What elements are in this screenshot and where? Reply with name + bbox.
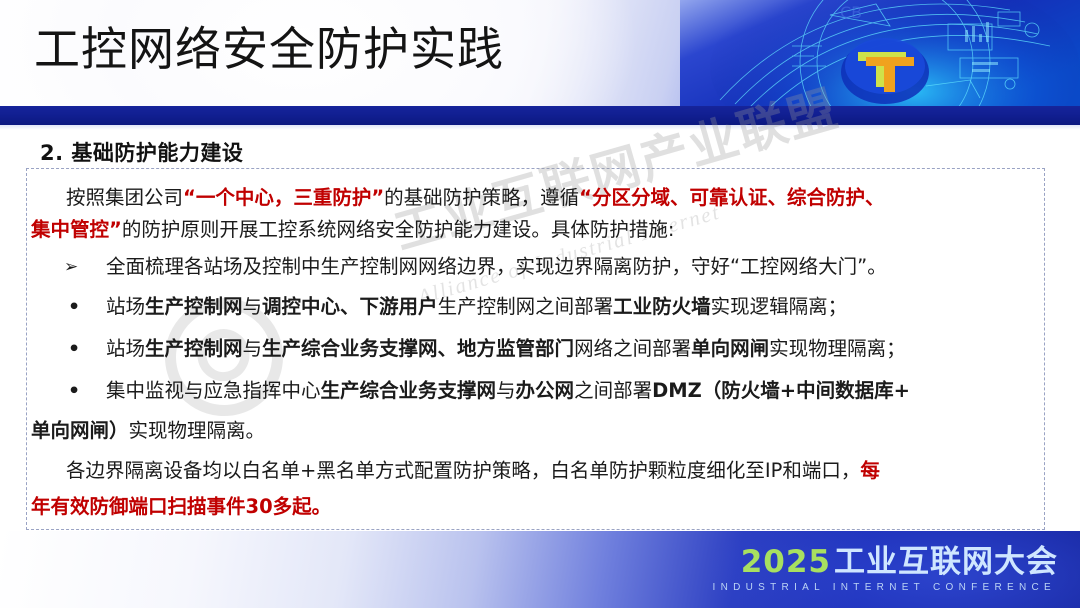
header-tech-graphic-icon: CB [680,0,1080,107]
p1-seg-a: 按照集团公司 [66,186,183,209]
slide-footer: 2025工业互联网大会 INDUSTRIAL INTERNET CONFEREN… [0,531,1080,608]
bullet-1-b2: 调控中心、下游用户 [262,295,438,318]
bullet-3-b2: 办公网 [516,379,575,402]
conference-name-cn: 工业互联网大会 [834,544,1058,580]
p2-black: 各边界隔离设备均以白名单+黑名单方式配置防护策略，白名单防护颗粒度细化至IP和端… [66,459,860,482]
conference-year: 2025 [741,544,831,580]
bullet-item-2: 站场生产控制网与生产综合业务支撑网、地方监管部门网络之间部署单向网闸实现物理隔离… [106,337,906,361]
body-text: 按照集团公司“一个中心，三重防护”的基础防护策略，遵循“分区分域、可靠认证、综合… [26,168,1045,530]
dot-bullet-icon: • [68,337,80,361]
bullet-1-p4: 实现逻辑隔离； [711,295,848,318]
header-divider-shadow [0,125,1080,130]
dot-bullet-icon: • [68,379,80,403]
dot-bullet-icon: • [68,295,80,319]
bullet-1-b3: 工业防火墙 [613,295,711,318]
bullet-2-b2: 生产综合业务支撑网、地方监管部门 [262,337,574,360]
conference-logo: 2025工业互联网大会 INDUSTRIAL INTERNET CONFEREN… [713,545,1058,593]
bullet-2-b3: 单向网闸 [691,337,769,360]
bullet-1-p2: 与 [243,295,263,318]
page-title: 工控网络安全防护实践 [34,21,504,77]
bullet-3-p3: 之间部署 [574,379,652,402]
paragraph1-line1: 按照集团公司“一个中心，三重防护”的基础防护策略，遵循“分区分域、可靠认证、综合… [66,186,885,210]
svg-text:CB: CB [840,3,862,22]
conference-name-en: INDUSTRIAL INTERNET CONFERENCE [713,582,1058,593]
bullet-3-b4: 单向网闸） [31,419,129,442]
p2-red-start: 每 [860,459,880,482]
slide: CB 工控网络安全防护实践 2. 基础防护能力建设 工业互联网产业联盟 Alli… [0,0,1080,608]
bullet-3-b3: DMZ（防火墙+中间数据库+ [652,379,910,402]
bullet-1-p3: 生产控制网之间部署 [438,295,614,318]
arrow-bullet-icon: ➢ [64,255,78,279]
paragraph2-line2: 年有效防御端口扫描事件30多起。 [31,495,331,519]
bullet-item-0: 全面梳理各站场及控制中生产控制网网络边界，实现边界隔离防护，守好“工控网络大门”… [106,255,887,279]
bullet-2-p3: 网络之间部署 [574,337,691,360]
bullet-2-p1: 站场 [106,337,145,360]
bullet-3-b1: 生产综合业务支撑网 [321,379,497,402]
bullet-1-b1: 生产控制网 [145,295,243,318]
header-divider-bar [0,106,1080,125]
p1-red-quote-2: “分区分域、可靠认证、综合防护、 [579,186,884,209]
bullet-0-text: 全面梳理各站场及控制中生产控制网网络边界，实现边界隔离防护，守好“工控网络大门”… [106,255,887,278]
paragraph2-line1: 各边界隔离设备均以白名单+黑名单方式配置防护策略，白名单防护颗粒度细化至IP和端… [66,459,880,483]
bullet-2-b1: 生产控制网 [145,337,243,360]
p1-red-quote-1: “一个中心，三重防护” [183,186,384,209]
bullet-3-p2: 与 [496,379,516,402]
p1-seg-b: 的基础防护策略，遵循 [384,186,579,209]
bullet-3-p1: 集中监视与应急指挥中心 [106,379,321,402]
bullet-2-p4: 实现物理隔离； [769,337,906,360]
conference-logo-main: 2025工业互联网大会 [713,545,1058,579]
p1-seg-c: 的防护原则开展工控系统网络安全防护能力建设。具体防护措施: [122,218,675,241]
p1-red-quote-3: 集中管控” [31,218,122,241]
bullet-item-3-line2: 单向网闸）实现物理隔离。 [31,419,265,443]
slide-header: CB 工控网络安全防护实践 [0,0,1080,107]
bullet-item-1: 站场生产控制网与调控中心、下游用户生产控制网之间部署工业防火墙实现逻辑隔离； [106,295,847,319]
bullet-2-p2: 与 [243,337,263,360]
bullet-1-p1: 站场 [106,295,145,318]
bullet-item-3-line1: 集中监视与应急指挥中心生产综合业务支撑网与办公网之间部署DMZ（防火墙+中间数据… [106,379,910,403]
paragraph1-line2: 集中管控”的防护原则开展工控系统网络安全防护能力建设。具体防护措施: [31,218,674,242]
bullet-3-p4: 实现物理隔离。 [129,419,266,442]
section-heading: 2. 基础防护能力建设 [40,137,243,167]
